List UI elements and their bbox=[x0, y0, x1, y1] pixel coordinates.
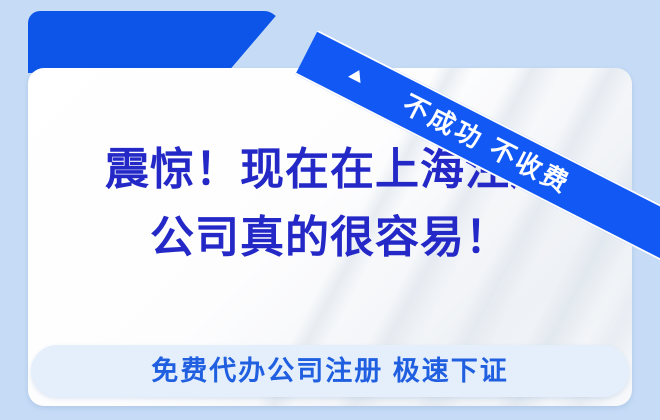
cta-pill[interactable]: 免费代办公司注册 极速下证 bbox=[31, 345, 629, 397]
cta-pill-label: 免费代办公司注册 极速下证 bbox=[31, 345, 629, 397]
brand-tab bbox=[28, 11, 280, 73]
promo-poster: 震惊！现在在上海注册 公司真的很容易！ 上海壹隆 免费代办公司注册 极速下证 不… bbox=[0, 0, 660, 420]
headline-line-2: 公司真的很容易！ bbox=[28, 204, 632, 272]
triangle-up-icon bbox=[348, 67, 365, 83]
